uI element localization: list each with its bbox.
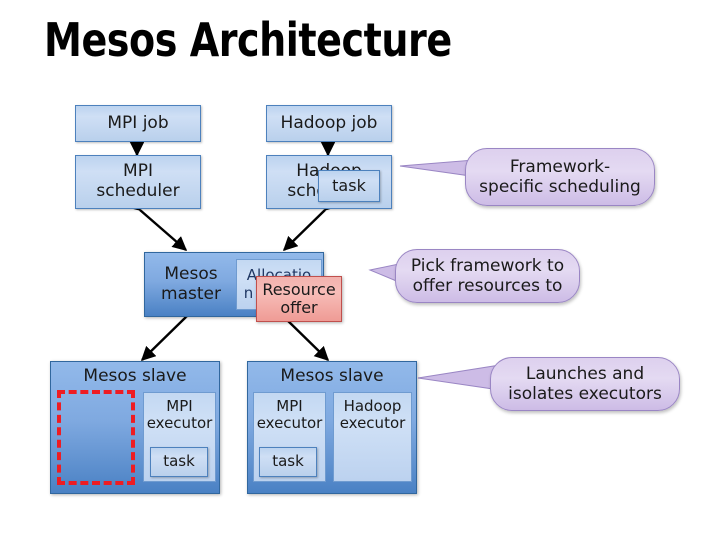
mpi-scheduler-label: MPI scheduler <box>76 162 200 201</box>
resource-offer-box[interactable]: Resource offer <box>256 276 342 322</box>
mpi-executor-task-label-right: task <box>260 453 316 470</box>
mpi-job-box[interactable]: MPI job <box>75 105 201 142</box>
mpi-job-label: MPI job <box>76 114 200 134</box>
mesos-slave-left-empty-slot <box>57 390 135 485</box>
mesos-slave-left-label: Mesos slave <box>51 367 219 387</box>
slide-canvas: Mesos Architecture <box>0 0 721 540</box>
mpi-scheduler-box[interactable]: MPI scheduler <box>75 155 201 209</box>
arrow-mpi-scheduler-master <box>140 210 186 250</box>
callout-launches-isolates[interactable]: Launches and isolates executors <box>490 357 680 411</box>
hadoop-scheduler-task-box[interactable]: task <box>318 170 380 202</box>
arrow-master-slave-left <box>142 317 186 360</box>
arrow-hadoop-scheduler-master <box>284 210 325 250</box>
hadoop-executor-label-right: Hadoop executor <box>334 398 411 433</box>
mpi-executor-label-left: MPI executor <box>144 398 215 433</box>
callout-framework-scheduling[interactable]: Framework- specific scheduling <box>465 148 655 206</box>
page-title: Mesos Architecture <box>44 13 452 67</box>
callout-framework-scheduling-text: Framework- specific scheduling <box>466 157 654 198</box>
hadoop-scheduler-task-label: task <box>319 177 379 195</box>
resource-offer-label: Resource offer <box>257 281 341 318</box>
callout-launches-isolates-text: Launches and isolates executors <box>491 364 679 405</box>
mesos-master-label: Mesos master <box>145 265 237 304</box>
mpi-executor-label-right: MPI executor <box>254 398 325 433</box>
hadoop-job-box[interactable]: Hadoop job <box>266 105 392 142</box>
hadoop-executor-box-right[interactable]: Hadoop executor <box>333 392 412 482</box>
arrow-master-slave-right <box>284 317 328 360</box>
callout-pick-framework[interactable]: Pick framework to offer resources to <box>395 249 580 303</box>
callout-pick-framework-text: Pick framework to offer resources to <box>396 256 579 297</box>
hadoop-job-label: Hadoop job <box>267 114 391 134</box>
mpi-executor-task-left[interactable]: task <box>150 447 208 477</box>
mpi-executor-task-label-left: task <box>151 453 207 470</box>
mesos-slave-right-label: Mesos slave <box>248 367 416 387</box>
mpi-executor-task-right[interactable]: task <box>259 447 317 477</box>
